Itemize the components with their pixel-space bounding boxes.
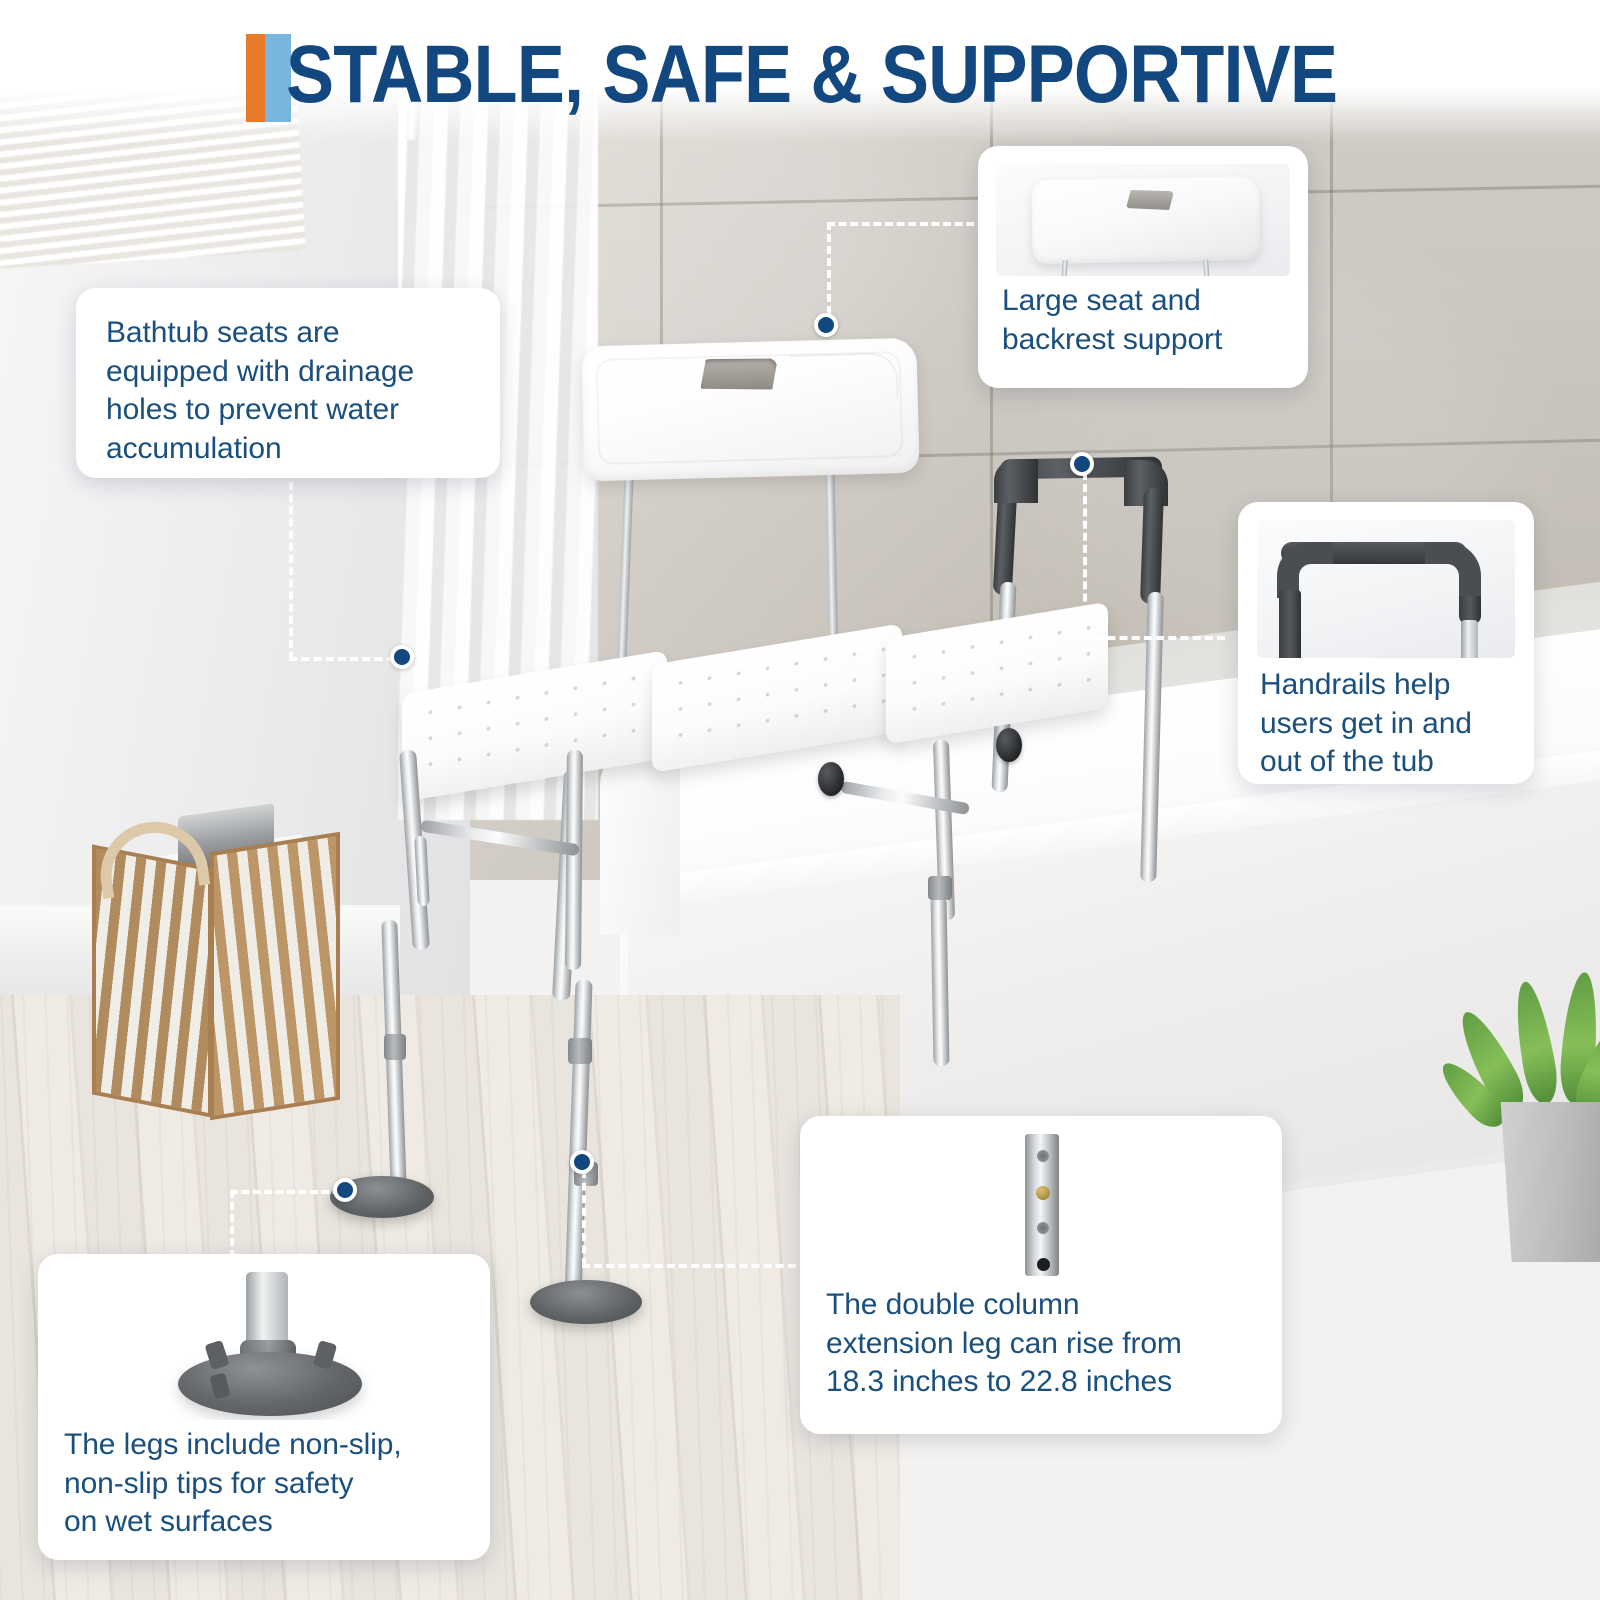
callout-card-non-slip: The legs include non-slip, non-slip tips…: [38, 1254, 490, 1560]
connector-dot-backrest: [814, 313, 838, 337]
callout-card-extension-leg: The double column extension leg can rise…: [800, 1116, 1282, 1434]
callout-text-handrails: Handrails help users get in and out of t…: [1256, 666, 1516, 782]
backrest-grip-cutout: [700, 357, 779, 391]
connector-handrail-h: [1083, 636, 1225, 640]
connector-drainage-v: [289, 470, 293, 660]
callout-text-extension-leg: The double column extension leg can rise…: [822, 1286, 1260, 1402]
callout-text-non-slip: The legs include non-slip, non-slip tips…: [60, 1426, 468, 1542]
leg-rear-left: [565, 750, 583, 970]
callout-card-drainage: Bathtub seats are equipped with drainage…: [76, 288, 500, 478]
page-title: STABLE, SAFE & SUPPORTIVE: [286, 28, 1337, 122]
backrest-product-photo: [996, 164, 1290, 276]
extension-leg-photo: [1013, 1134, 1069, 1280]
leg-collar-front-left: [384, 1034, 406, 1060]
connector-extension-h: [582, 1264, 820, 1268]
wicker-basket: [92, 820, 342, 1120]
seat-panel-left: [402, 650, 667, 802]
leg-front-right-lower: [564, 980, 592, 1300]
drainage-holes-center: [666, 636, 888, 761]
connector-dot-extension: [570, 1150, 594, 1174]
callout-card-seat-backrest: Large seat and backrest support: [978, 146, 1308, 388]
seat-panel-center: [652, 623, 902, 772]
backrest-panel: [581, 338, 919, 482]
plant-pot: [1494, 1102, 1600, 1262]
non-slip-foot-center: [530, 1280, 642, 1324]
brace-left-diagonal: [414, 836, 430, 907]
connector-dot-handrail: [1070, 452, 1094, 476]
handrail-product-photo: [1257, 520, 1515, 658]
drainage-holes-right: [900, 614, 1094, 732]
connector-handrail-v: [1083, 472, 1087, 638]
adjustment-knob-right: [996, 728, 1022, 762]
connector-extension-v: [582, 1170, 586, 1266]
leg-rear-right-lower: [931, 896, 950, 1066]
leg-collar-rear-right: [928, 876, 952, 900]
drainage-holes-left: [416, 662, 653, 789]
infographic-canvas: STABLE, SAFE & SUPPORTIVE Bathtub seats …: [0, 0, 1600, 1600]
accent-bar-orange: [246, 34, 265, 122]
callout-text-seat-backrest: Large seat and backrest support: [996, 282, 1290, 359]
callout-card-handrails: Handrails help users get in and out of t…: [1238, 502, 1534, 784]
callout-text-drainage: Bathtub seats are equipped with drainage…: [106, 314, 470, 469]
backrest-contour: [790, 352, 899, 401]
seat-panel-right: [886, 602, 1108, 745]
brace-left-horizontal: [420, 820, 580, 857]
handrail-vertical-right: [1140, 488, 1164, 605]
connector-dot-drainage: [390, 645, 414, 669]
adjustment-knob-center: [818, 762, 844, 796]
connector-backrest-v: [827, 222, 831, 326]
non-slip-foot-photo: [62, 1270, 466, 1420]
connector-dot-tips: [333, 1178, 357, 1202]
handrail-corner-left: [994, 459, 1038, 503]
leg-collar-front-right: [568, 1038, 592, 1064]
basket-front-side: [210, 832, 340, 1121]
